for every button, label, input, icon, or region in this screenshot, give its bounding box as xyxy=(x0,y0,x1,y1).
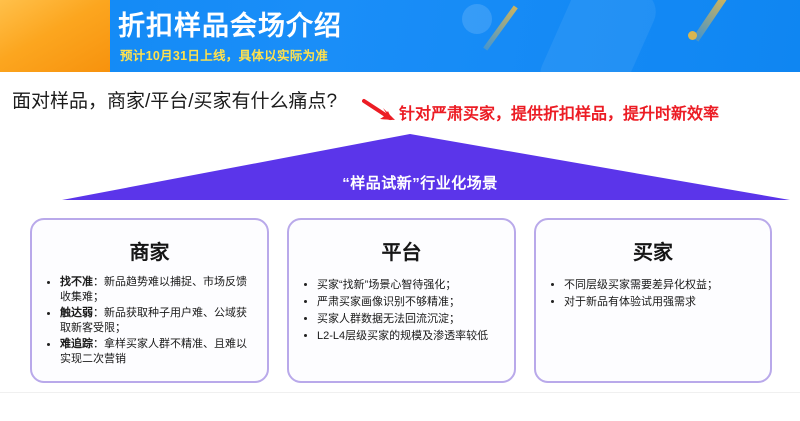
header-banner: 折扣样品会场介绍 预计10月31日上线，具体以实际为准 xyxy=(0,0,800,72)
list-item: 找不准：新品趋势难以捕捉、市场反馈收集难； xyxy=(42,275,257,305)
card-title: 买家 xyxy=(546,236,760,265)
pain-point-question: 面对样品，商家/平台/买家有什么痛点? xyxy=(12,86,337,113)
card-merchant: 商家 找不准：新品趋势难以捕捉、市场反馈收集难； 触达弱：新品获取种子用户难、公… xyxy=(30,218,269,383)
card-title: 平台 xyxy=(299,236,504,265)
bullet-list: 不同层级买家需要差异化权益； 对于新品有体验试用强需求 xyxy=(546,277,760,311)
bullet-text: 对于新品有体验试用强需求 xyxy=(564,296,696,308)
card-platform: 平台 买家“找新”场景心智待强化； 严肃买家画像识别不够精准； 买家人群数据无法… xyxy=(287,218,516,383)
decorative-dot-icon xyxy=(688,31,697,40)
bullet-text: L2-L4层级买家的规模及渗透率较低 xyxy=(317,330,488,342)
slide: 折扣样品会场介绍 预计10月31日上线，具体以实际为准 面对样品，商家/平台/买… xyxy=(0,0,800,421)
list-item: 难追踪：拿样买家人群不精准、且难以实现二次营销 xyxy=(42,337,257,367)
industry-scenario-band: “样品试新”行业化场景 xyxy=(0,132,800,204)
bullet-lead: 触达弱 xyxy=(60,307,93,319)
card-title: 商家 xyxy=(42,236,257,265)
solution-statement: 针对严肃买家，提供折扣样品，提升时新效率 xyxy=(399,100,719,124)
header-orange-block xyxy=(0,0,110,72)
bullet-text: 严肃买家画像识别不够精准； xyxy=(317,296,460,308)
decorative-streak-icon xyxy=(693,0,727,42)
list-item: 严肃买家画像识别不够精准； xyxy=(299,294,504,310)
list-item: 买家人群数据无法回流沉淀； xyxy=(299,311,504,327)
bullet-text: 买家人群数据无法回流沉淀； xyxy=(317,313,460,325)
header-subtitle: 预计10月31日上线，具体以实际为准 xyxy=(120,45,328,64)
decorative-band-shape xyxy=(533,0,663,72)
arrow-down-right-icon xyxy=(362,98,402,124)
list-item: 不同层级买家需要差异化权益； xyxy=(546,277,760,293)
bullet-lead: 找不准 xyxy=(60,276,93,288)
card-buyer: 买家 不同层级买家需要差异化权益； 对于新品有体验试用强需求 xyxy=(534,218,772,383)
list-item: L2-L4层级买家的规模及渗透率较低 xyxy=(299,328,504,344)
page-content-edge xyxy=(0,392,800,393)
bullet-list: 买家“找新”场景心智待强化； 严肃买家画像识别不够精准； 买家人群数据无法回流沉… xyxy=(299,277,504,345)
bullet-lead: 难追踪 xyxy=(60,338,93,350)
list-item: 触达弱：新品获取种子用户难、公域获取新客受限； xyxy=(42,306,257,336)
list-item: 对于新品有体验试用强需求 xyxy=(546,294,760,310)
bullet-text: 买家“找新”场景心智待强化； xyxy=(317,279,456,291)
list-item: 买家“找新”场景心智待强化； xyxy=(299,277,504,293)
bullet-list: 找不准：新品趋势难以捕捉、市场反馈收集难； 触达弱：新品获取种子用户难、公域获取… xyxy=(42,275,257,368)
bullet-text: 不同层级买家需要差异化权益； xyxy=(564,279,718,291)
pain-point-cards: 商家 找不准：新品趋势难以捕捉、市场反馈收集难； 触达弱：新品获取种子用户难、公… xyxy=(30,218,772,383)
decorative-circle-icon xyxy=(462,4,492,34)
header-title: 折扣样品会场介绍 xyxy=(118,4,342,43)
industry-scenario-label: “样品试新”行业化场景 xyxy=(0,172,800,193)
